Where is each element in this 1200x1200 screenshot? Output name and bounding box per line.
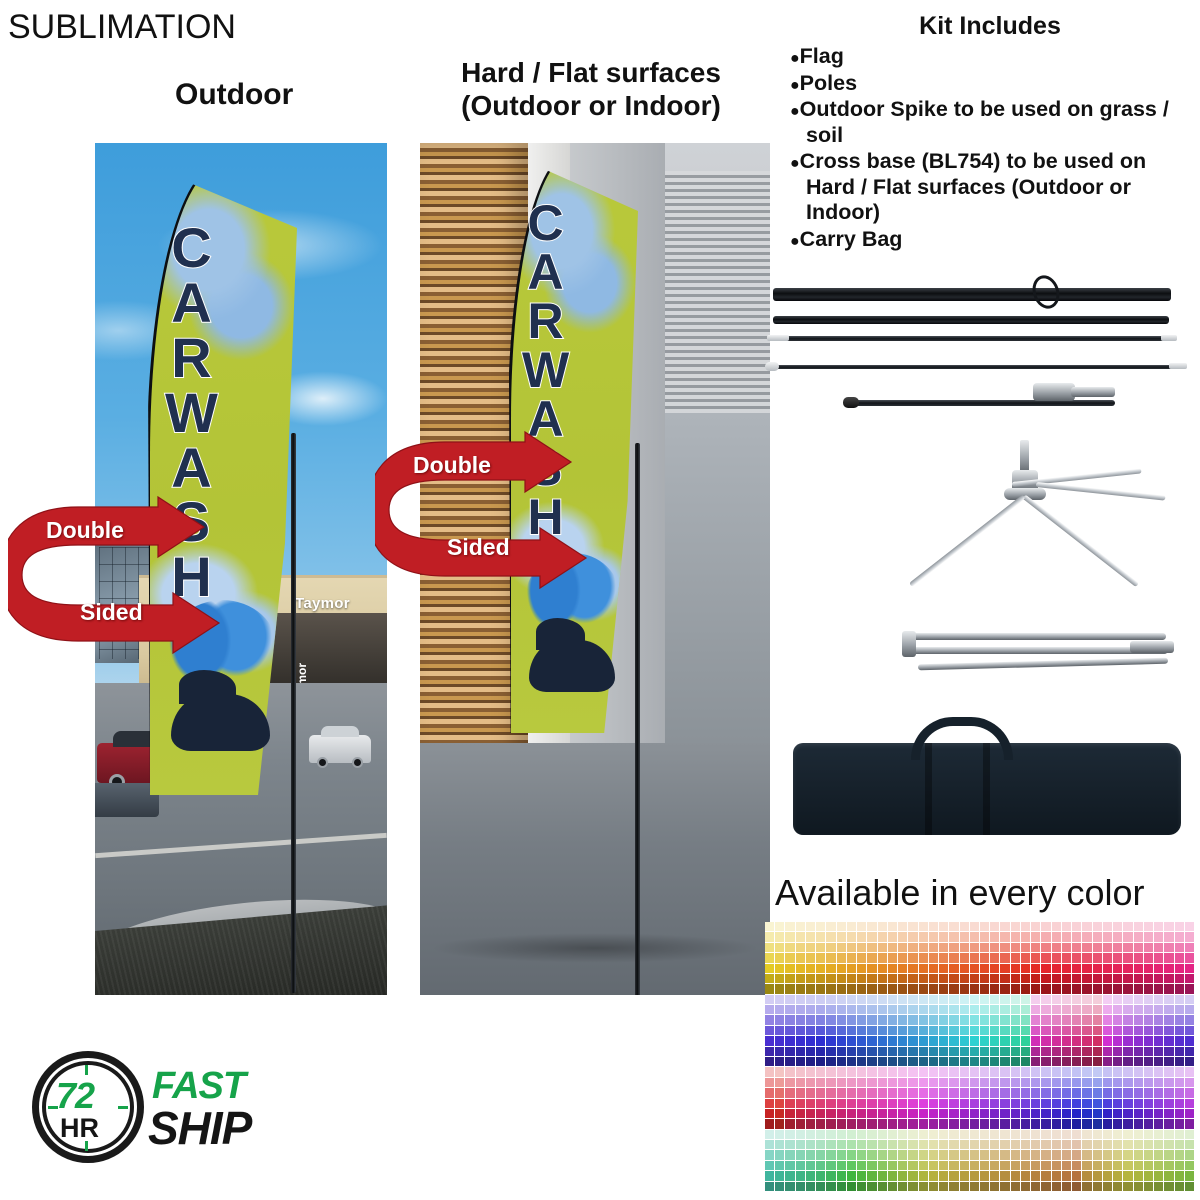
color-swatch: [806, 943, 816, 953]
color-swatch: [1154, 984, 1164, 994]
color-swatch: [847, 922, 857, 932]
color-swatch: [980, 922, 990, 932]
color-swatch: [939, 1140, 949, 1150]
color-swatch: [888, 1047, 898, 1057]
color-swatch: [847, 1130, 857, 1140]
color-swatch: [1072, 1161, 1082, 1171]
color-swatch: [837, 1109, 847, 1119]
color-swatch: [1041, 964, 1051, 974]
color-swatch: [806, 1161, 816, 1171]
badge-double-sided-center: Double Sided: [375, 430, 590, 590]
color-swatch: [1041, 1088, 1051, 1098]
color-swatch: [939, 932, 949, 942]
double-sided-label-bottom: Sided: [80, 599, 143, 626]
color-swatch: [765, 964, 775, 974]
color-swatch: [1052, 1015, 1062, 1025]
color-swatch: [1164, 1057, 1174, 1067]
color-swatch: [1093, 1171, 1103, 1181]
kit-list-item: Cross base (BL754) to be used on Hard / …: [790, 149, 1178, 226]
color-swatch: [1082, 932, 1092, 942]
color-swatch: [1093, 943, 1103, 953]
color-swatch: [796, 932, 806, 942]
color-swatch: [1113, 984, 1123, 994]
color-swatch: [1031, 1015, 1041, 1025]
color-swatch: [1082, 1047, 1092, 1057]
color-swatch: [1031, 1171, 1041, 1181]
color-swatch: [970, 1036, 980, 1046]
color-swatch: [980, 1140, 990, 1150]
color-swatch: [1041, 1057, 1051, 1067]
color-swatch: [919, 974, 929, 984]
color-swatch: [1072, 1015, 1082, 1025]
color-swatch: [806, 1099, 816, 1109]
color-swatch: [1072, 1057, 1082, 1067]
color-swatch: [765, 1109, 775, 1119]
color-swatch: [1041, 1182, 1051, 1192]
color-swatch: [1113, 1109, 1123, 1119]
color-swatch: [1062, 964, 1072, 974]
color-swatch: [847, 1005, 857, 1015]
color-swatch: [806, 1130, 816, 1140]
color-swatch: [878, 1109, 888, 1119]
color-swatch: [1175, 1130, 1185, 1140]
color-swatch: [765, 1099, 775, 1109]
color-swatch: [785, 1161, 795, 1171]
color-swatch: [1021, 1026, 1031, 1036]
color-swatch: [929, 1036, 939, 1046]
color-swatch: [1154, 974, 1164, 984]
color-swatch: [785, 1026, 795, 1036]
color-swatch: [1144, 964, 1154, 974]
color-swatch: [816, 1088, 826, 1098]
color-swatch: [908, 1150, 918, 1160]
color-swatch: [1011, 1109, 1021, 1119]
color-swatch: [1123, 1130, 1133, 1140]
color-swatch: [960, 1171, 970, 1181]
color-swatch: [919, 1182, 929, 1192]
color-swatch: [1072, 1150, 1082, 1160]
color-swatch: [775, 1057, 785, 1067]
color-swatch: [796, 1140, 806, 1150]
color-swatch: [826, 1015, 836, 1025]
color-swatch: [888, 974, 898, 984]
color-swatch: [878, 995, 888, 1005]
color-swatch: [929, 1150, 939, 1160]
color-swatch: [837, 1036, 847, 1046]
color-swatch: [1082, 1171, 1092, 1181]
color-swatch: [847, 1161, 857, 1171]
color-swatch: [1072, 1171, 1082, 1181]
color-swatch: [1000, 1036, 1010, 1046]
color-swatch: [949, 1047, 959, 1057]
pole-cord-loop: [1028, 272, 1063, 312]
color-swatch: [1041, 1078, 1051, 1088]
color-swatch: [1011, 1150, 1021, 1160]
color-swatch: [878, 1182, 888, 1192]
color-swatch: [970, 1140, 980, 1150]
color-swatch: [847, 964, 857, 974]
color-swatch: [908, 932, 918, 942]
kit-components-poles: [765, 270, 1200, 430]
color-swatch: [1103, 1150, 1113, 1160]
color-swatch: [1144, 953, 1154, 963]
color-swatch: [1144, 1036, 1154, 1046]
color-swatch: [1031, 964, 1041, 974]
color-swatch: [1134, 953, 1144, 963]
color-swatch: [1164, 1015, 1174, 1025]
color-swatch: [1154, 1130, 1164, 1140]
color-swatch: [1041, 1015, 1051, 1025]
color-swatch: [837, 1182, 847, 1192]
color-swatch: [837, 932, 847, 942]
color-swatch: [1185, 964, 1195, 974]
color-swatch: [785, 1130, 795, 1140]
color-swatch: [775, 995, 785, 1005]
color-swatch: [1144, 1026, 1154, 1036]
color-swatch: [1113, 922, 1123, 932]
flag-letter: R: [528, 297, 563, 346]
color-swatch: [1011, 1171, 1021, 1181]
color-swatch: [765, 1067, 775, 1077]
color-swatch: [1185, 984, 1195, 994]
color-swatch: [1031, 974, 1041, 984]
color-swatch: [1041, 1150, 1051, 1160]
heading-hard-flat-line1: Hard / Flat surfaces: [405, 56, 777, 89]
color-swatch: [888, 1015, 898, 1025]
color-swatch: [806, 1036, 816, 1046]
color-swatch: [1062, 1015, 1072, 1025]
color-swatch: [867, 1119, 877, 1129]
color-swatch: [1072, 1099, 1082, 1109]
color-swatch: [1185, 1036, 1195, 1046]
color-swatch: [1154, 953, 1164, 963]
color-swatch: [949, 1099, 959, 1109]
color-swatch: [1175, 1109, 1185, 1119]
color-swatch: [960, 922, 970, 932]
color-swatch: [796, 964, 806, 974]
color-swatch: [1113, 1026, 1123, 1036]
color-swatch: [1072, 1026, 1082, 1036]
color-swatch: [867, 974, 877, 984]
color-swatch: [1052, 1078, 1062, 1088]
color-swatch: [980, 1088, 990, 1098]
color-swatch: [970, 1015, 980, 1025]
flag-letter: C: [528, 199, 563, 248]
color-swatch: [980, 974, 990, 984]
color-swatch: [1082, 953, 1092, 963]
color-swatch: [1113, 1130, 1123, 1140]
color-swatch: [785, 1182, 795, 1192]
color-swatch: [796, 1182, 806, 1192]
color-swatch: [1164, 995, 1174, 1005]
color-swatch: [1164, 1130, 1174, 1140]
color-swatch: [990, 1005, 1000, 1015]
color-swatch: [785, 922, 795, 932]
color-swatch: [908, 1182, 918, 1192]
color-swatch: [939, 1047, 949, 1057]
color-swatch: [1011, 922, 1021, 932]
color-swatch: [867, 1182, 877, 1192]
color-swatch: [888, 984, 898, 994]
color-swatch: [960, 1078, 970, 1088]
color-swatch: [1093, 1150, 1103, 1160]
color-swatch: [837, 1088, 847, 1098]
color-swatch: [867, 1150, 877, 1160]
color-swatch: [837, 922, 847, 932]
color-swatch: [908, 1057, 918, 1067]
color-swatch: [908, 1078, 918, 1088]
color-swatch: [816, 922, 826, 932]
color-swatch: [1123, 1026, 1133, 1036]
color-swatch: [1072, 995, 1082, 1005]
color-swatch: [990, 1047, 1000, 1057]
floor-shadow: [430, 933, 760, 963]
kit-list-item: Poles: [790, 71, 1178, 97]
color-swatch: [826, 1171, 836, 1181]
color-swatch: [970, 1099, 980, 1109]
color-swatch: [990, 1099, 1000, 1109]
color-swatch: [898, 1047, 908, 1057]
color-swatch: [765, 974, 775, 984]
color-swatch: [949, 1015, 959, 1025]
color-swatch: [1175, 1182, 1185, 1192]
color-swatch: [1093, 995, 1103, 1005]
color-swatch: [775, 1130, 785, 1140]
color-swatch: [1041, 1026, 1051, 1036]
color-swatch: [878, 932, 888, 942]
color-swatch: [1123, 1088, 1133, 1098]
color-swatch: [837, 1161, 847, 1171]
color-swatch: [785, 974, 795, 984]
color-swatch: [949, 1078, 959, 1088]
color-swatch: [857, 1057, 867, 1067]
color-swatch: [970, 943, 980, 953]
color-swatch: [1175, 1005, 1185, 1015]
color-swatch: [847, 1140, 857, 1150]
color-swatch: [785, 984, 795, 994]
color-swatch: [816, 1140, 826, 1150]
ceiling-slats: [665, 171, 770, 421]
color-swatch: [816, 974, 826, 984]
color-swatch: [1062, 1078, 1072, 1088]
color-swatch: [1134, 1047, 1144, 1057]
color-swatch: [857, 922, 867, 932]
color-swatch: [826, 1130, 836, 1140]
color-swatch: [990, 1026, 1000, 1036]
color-swatch: [939, 1067, 949, 1077]
color-swatch: [847, 1119, 857, 1129]
color-swatch: [960, 1109, 970, 1119]
color-swatch: [898, 995, 908, 1005]
color-swatch: [990, 1078, 1000, 1088]
color-swatch: [806, 1047, 816, 1057]
color-swatch: [980, 984, 990, 994]
color-swatch: [1072, 1036, 1082, 1046]
color-swatch: [949, 1119, 959, 1129]
color-swatch: [857, 1078, 867, 1088]
color-swatch: [1185, 943, 1195, 953]
color-swatch: [919, 953, 929, 963]
color-swatch: [980, 964, 990, 974]
color-swatch: [847, 1047, 857, 1057]
color-swatch: [796, 1171, 806, 1181]
color-swatch: [1144, 922, 1154, 932]
color-swatch: [908, 984, 918, 994]
color-swatch: [1113, 1047, 1123, 1057]
color-swatch: [1000, 964, 1010, 974]
color-swatch: [878, 943, 888, 953]
color-swatch: [1123, 1109, 1133, 1119]
color-swatch: [1000, 974, 1010, 984]
color-swatch: [1093, 1088, 1103, 1098]
color-swatch: [1185, 1161, 1195, 1171]
color-swatch: [785, 1140, 795, 1150]
color-swatch: [970, 1026, 980, 1036]
color-swatch: [990, 984, 1000, 994]
color-swatch: [919, 1026, 929, 1036]
color-swatch: [857, 1161, 867, 1171]
color-swatch: [1123, 1119, 1133, 1129]
color-swatch: [929, 1109, 939, 1119]
color-swatch: [1082, 943, 1092, 953]
color-swatch: [1093, 1005, 1103, 1015]
color-swatch: [775, 1119, 785, 1129]
color-swatch: [796, 995, 806, 1005]
color-swatch: [826, 1150, 836, 1160]
color-swatch: [888, 1057, 898, 1067]
color-swatch: [888, 1119, 898, 1129]
color-swatch: [1000, 1099, 1010, 1109]
color-swatch: [1103, 1015, 1113, 1025]
color-swatch: [857, 1130, 867, 1140]
color-swatch: [919, 984, 929, 994]
kit-component-cross-base: [860, 432, 1200, 572]
color-swatch: [1154, 1015, 1164, 1025]
color-swatch: [837, 1099, 847, 1109]
color-swatch: [990, 1119, 1000, 1129]
color-swatch: [898, 984, 908, 994]
color-swatch: [1185, 995, 1195, 1005]
color-swatch: [847, 1067, 857, 1077]
color-swatch: [960, 1099, 970, 1109]
color-swatch: [970, 1005, 980, 1015]
color-swatch: [949, 1161, 959, 1171]
color-swatch: [878, 974, 888, 984]
color-chart-block: [765, 1130, 1195, 1192]
double-sided-label-top: Double: [46, 517, 124, 544]
color-swatch: [878, 1047, 888, 1057]
color-swatch: [929, 1057, 939, 1067]
color-swatch: [1011, 1099, 1021, 1109]
color-swatch: [1072, 1119, 1082, 1129]
color-swatch: [1123, 1099, 1133, 1109]
color-swatch: [1000, 1182, 1010, 1192]
color-swatch: [1041, 1047, 1051, 1057]
color-swatch: [1123, 943, 1133, 953]
badge-double-sided-left: Double Sided: [8, 495, 223, 655]
color-swatch: [1062, 1036, 1072, 1046]
color-swatch: [1072, 1088, 1082, 1098]
color-swatch: [1134, 1005, 1144, 1015]
color-swatch: [1144, 932, 1154, 942]
color-swatch: [1021, 1182, 1031, 1192]
color-swatch: [1021, 932, 1031, 942]
color-swatch: [939, 964, 949, 974]
color-swatch: [826, 1078, 836, 1088]
color-swatch: [878, 1088, 888, 1098]
flag-letter: A: [528, 248, 563, 297]
color-swatch: [1052, 1119, 1062, 1129]
color-swatch: [806, 964, 816, 974]
color-swatch: [1093, 1047, 1103, 1057]
color-swatch: [960, 1067, 970, 1077]
color-swatch: [980, 1130, 990, 1140]
color-swatch: [1134, 1026, 1144, 1036]
color-swatch: [1144, 984, 1154, 994]
color-swatch: [1154, 932, 1164, 942]
color-swatch: [1000, 1026, 1010, 1036]
color-swatch: [1021, 1078, 1031, 1088]
color-swatch: [949, 1026, 959, 1036]
color-swatch: [1175, 1015, 1185, 1025]
color-swatch: [1185, 1067, 1195, 1077]
color-swatch: [919, 964, 929, 974]
color-swatch: [1103, 1161, 1113, 1171]
color-swatch: [960, 1140, 970, 1150]
color-swatch: [970, 1150, 980, 1160]
color-swatch: [826, 1047, 836, 1057]
color-swatch: [1031, 953, 1041, 963]
color-swatch: [1144, 1140, 1154, 1150]
color-swatch: [1123, 922, 1133, 932]
color-swatch: [929, 1047, 939, 1057]
color-swatch: [1113, 974, 1123, 984]
color-swatch: [1154, 1036, 1164, 1046]
color-swatch: [1123, 964, 1133, 974]
color-swatch: [1000, 953, 1010, 963]
color-swatch: [1113, 932, 1123, 942]
color-swatch: [1185, 974, 1195, 984]
color-swatch: [970, 1088, 980, 1098]
color-swatch: [1062, 1161, 1072, 1171]
color-swatch: [816, 1171, 826, 1181]
color-swatch: [806, 1088, 816, 1098]
color-swatch: [1000, 1130, 1010, 1140]
color-swatch: [1164, 1150, 1174, 1160]
color-swatch: [1103, 1119, 1113, 1129]
color-swatch: [1134, 1088, 1144, 1098]
color-swatch: [867, 1057, 877, 1067]
color-swatch: [1144, 974, 1154, 984]
color-swatch: [970, 964, 980, 974]
heading-hard-flat-line2: (Outdoor or Indoor): [405, 89, 777, 122]
color-swatch: [816, 932, 826, 942]
color-swatch: [888, 1099, 898, 1109]
color-swatch: [1154, 943, 1164, 953]
color-swatch: [1052, 974, 1062, 984]
color-swatch: [826, 1109, 836, 1119]
color-swatch: [765, 1140, 775, 1150]
color-swatch: [939, 1078, 949, 1088]
fast-ship-word-ship: SHIP: [148, 1101, 251, 1155]
color-swatch: [919, 1119, 929, 1129]
color-swatch: [1031, 1078, 1041, 1088]
color-swatch: [908, 974, 918, 984]
color-swatch: [919, 1171, 929, 1181]
color-swatch: [980, 1150, 990, 1160]
color-swatch: [1134, 1067, 1144, 1077]
color-swatch: [806, 1109, 816, 1119]
